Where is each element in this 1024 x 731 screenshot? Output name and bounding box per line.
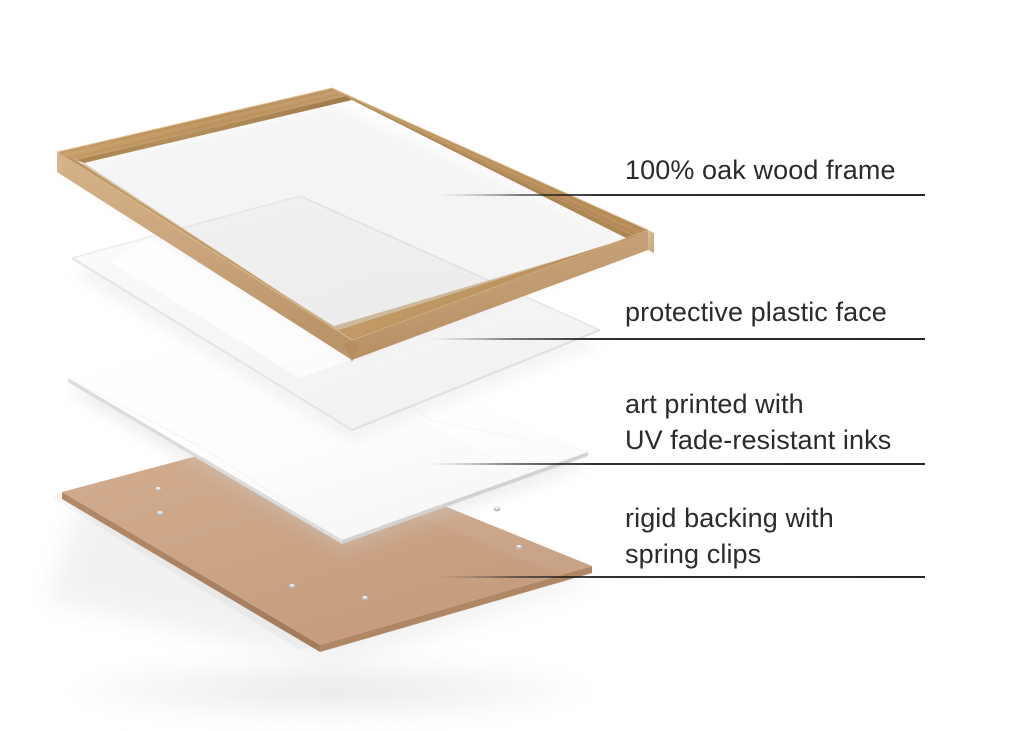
callout-plastic-face-label: protective plastic face — [625, 294, 887, 330]
callout-art-print: art printed with UV fade-resistant inks — [625, 386, 891, 458]
callout-oak-frame-label: 100% oak wood frame — [625, 152, 896, 188]
spring-clip — [362, 596, 369, 601]
callout-plastic-face: protective plastic face — [625, 294, 887, 330]
spring-clip — [155, 487, 162, 492]
callout-rigid-backing: rigid backing with spring clips — [625, 500, 834, 572]
product-illustration — [0, 0, 1024, 731]
leader-line-plastic-face — [430, 338, 925, 340]
callout-art-print-label: art printed with UV fade-resistant inks — [625, 386, 891, 458]
spring-clip — [157, 511, 164, 516]
callout-rigid-backing-label: rigid backing with spring clips — [625, 500, 834, 572]
callout-oak-frame: 100% oak wood frame — [625, 152, 896, 188]
spring-clip — [494, 507, 501, 512]
leader-line-rigid-backing — [438, 576, 925, 578]
exploded-view-diagram: 100% oak wood frame protective plastic f… — [0, 0, 1024, 731]
leader-line-oak-frame — [440, 194, 925, 196]
spring-clip — [289, 584, 296, 589]
spring-clip — [516, 545, 523, 550]
leader-line-art-print — [430, 463, 925, 465]
